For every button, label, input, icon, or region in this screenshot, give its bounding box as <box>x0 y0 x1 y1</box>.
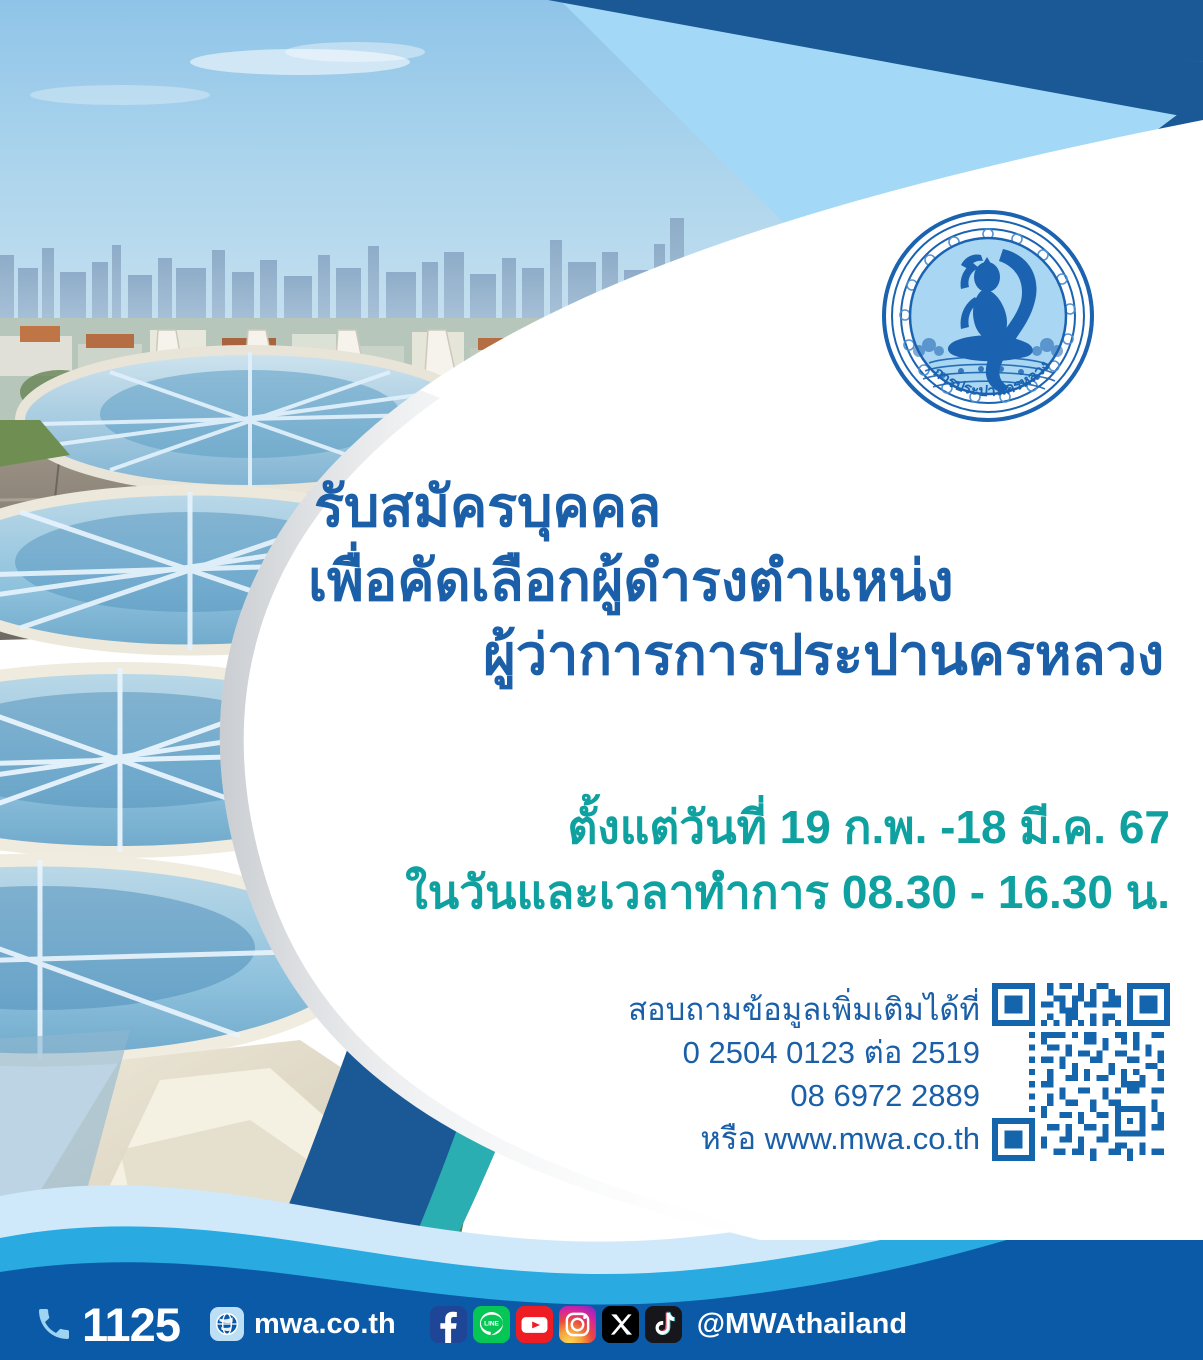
poster-root: การประปานครหลวง รับสมัครบุคคล เพื่อคัดเล… <box>0 0 1203 1360</box>
headline-line-2: เพื่อคัดเลือกผู้ดำรงตำแหน่ง <box>300 544 1180 618</box>
website-label: mwa.co.th <box>254 1310 396 1339</box>
social-handle: @MWAthailand <box>697 1310 907 1339</box>
headline-line-1: รับสมัครบุคคล <box>300 470 1180 544</box>
contact-phone-primary: 0 2504 0123 ต่อ 2519 <box>520 1031 980 1074</box>
contact-website: หรือ www.mwa.co.th <box>520 1117 980 1160</box>
contact-phone-secondary: 08 6972 2889 <box>520 1074 980 1117</box>
phone-icon <box>34 1304 74 1344</box>
poster-content: รับสมัครบุคคล เพื่อคัดเลือกผู้ดำรงตำแหน่… <box>0 0 1203 1360</box>
x-twitter-icon[interactable] <box>602 1306 639 1343</box>
contact-block: สอบถามข้อมูลเพิ่มเติมได้ที่ 0 2504 0123 … <box>520 988 980 1160</box>
svg-text:LINE: LINE <box>484 1320 499 1327</box>
footer-hotline[interactable]: 1125 <box>34 1301 180 1348</box>
hotline-number: 1125 <box>82 1301 180 1348</box>
headline-line-3: ผู้ว่าการการประปานครหลวง <box>300 618 1180 692</box>
qr-code[interactable] <box>992 983 1170 1161</box>
footer-website[interactable]: mwa.co.th <box>210 1307 396 1341</box>
tiktok-icon[interactable] <box>645 1306 682 1343</box>
contact-heading: สอบถามข้อมูลเพิ่มเติมได้ที่ <box>520 988 980 1031</box>
application-hours: ในวันและเวลาทำการ 08.30 - 16.30 น. <box>300 860 1170 925</box>
application-period-block: ตั้งแต่วันที่ 19 ก.พ. -18 มี.ค. 67 ในวัน… <box>300 795 1186 926</box>
application-dates: ตั้งแต่วันที่ 19 ก.พ. -18 มี.ค. 67 <box>300 795 1170 860</box>
footer-bar: 1125 mwa.co.th LINE <box>0 1288 1203 1360</box>
line-icon[interactable]: LINE <box>473 1306 510 1343</box>
facebook-icon[interactable] <box>430 1306 467 1343</box>
instagram-icon[interactable] <box>559 1306 596 1343</box>
headline-block: รับสมัครบุคคล เพื่อคัดเลือกผู้ดำรงตำแหน่… <box>300 470 1180 692</box>
social-icons: LINE <box>430 1306 682 1343</box>
youtube-icon[interactable] <box>516 1306 553 1343</box>
globe-icon <box>210 1307 244 1341</box>
